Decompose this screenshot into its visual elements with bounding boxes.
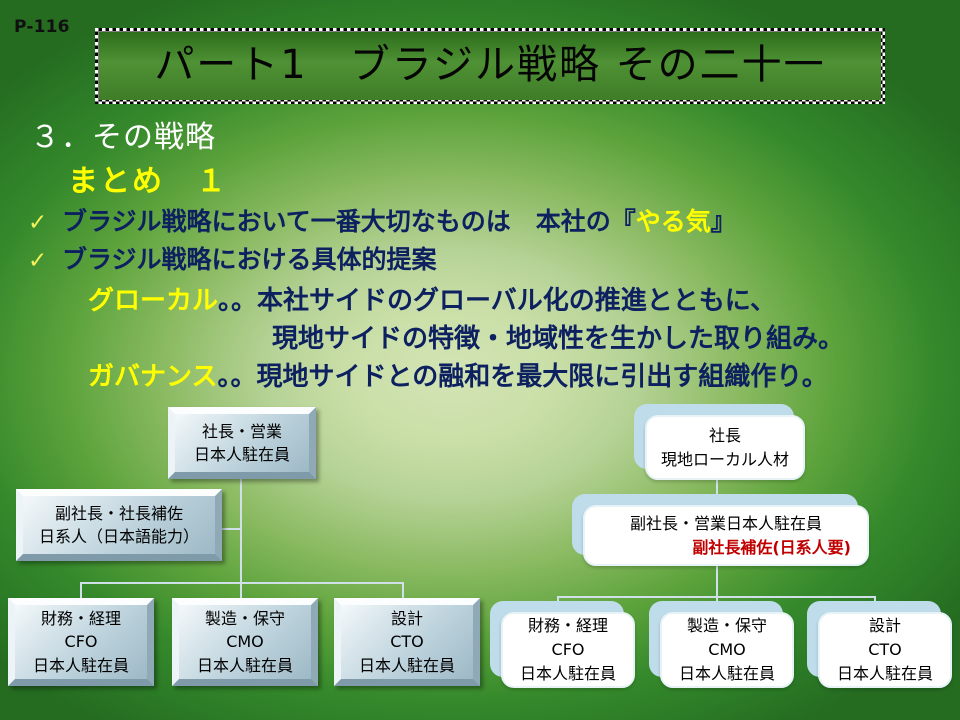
org-left-president: 社長・営業 日本人駐在員 [168, 407, 316, 479]
org-left-vp-line-2: 日系人（日本語能力） [39, 525, 199, 548]
bullet-1-highlight: やる気 [636, 207, 711, 236]
org-right-vice-president: 副社長・営業日本人駐在員 副社長補佐(日系人要) [583, 505, 869, 566]
bullet-1-lead: ブラジル戦略において一番大切なものは 本社の『 [62, 207, 636, 236]
org-left-president-line-1: 社長・営業 [202, 420, 282, 443]
connector-left-vp-stub [222, 528, 242, 530]
section-heading: ３．その戦略 [30, 112, 216, 156]
org-left-manufacturing-line-3: 日本人駐在員 [197, 654, 293, 677]
body-line-1: グローカル。。本社サイドのグローバル化の推進とともに、 [88, 280, 776, 317]
connector-left-president-down [240, 478, 242, 583]
org-left-vp-line-1: 副社長・社長補佐 [55, 502, 183, 525]
org-left-vice-president: 副社長・社長補佐 日系人（日本語能力） [16, 489, 222, 561]
org-left-design: 設計 CTO 日本人駐在員 [334, 598, 480, 686]
connector-left-drop-design [402, 582, 404, 598]
bullet-1-tail: 』 [711, 207, 736, 236]
card-body: 社長 現地ローカル人材 [645, 415, 805, 480]
check-icon: ✓ [28, 248, 62, 274]
org-left-president-line-2: 日本人駐在員 [194, 443, 290, 466]
org-right-manufacturing-line-1: 製造・保守 [687, 614, 767, 638]
org-left-finance-line-1: 財務・経理 [41, 607, 121, 630]
org-right-design: 設計 CTO 日本人駐在員 [818, 612, 952, 688]
org-right-manufacturing-line-2: CMO [708, 638, 746, 662]
bullet-item-1: ✓ブラジル戦略において一番大切なものは 本社の『やる気』 [28, 202, 736, 238]
card-body: 財務・経理 CFO 日本人駐在員 [501, 612, 635, 688]
card-body: 副社長・営業日本人駐在員 副社長補佐(日系人要) [583, 505, 869, 566]
org-left-design-line-1: 設計 [391, 607, 423, 630]
org-right-president: 社長 現地ローカル人材 [645, 415, 805, 480]
org-right-design-line-3: 日本人駐在員 [837, 662, 933, 686]
org-left-design-line-3: 日本人駐在員 [359, 654, 455, 677]
org-right-president-line-2: 現地ローカル人材 [661, 448, 789, 472]
org-right-finance-line-3: 日本人駐在員 [520, 662, 616, 686]
page-number: P-116 [14, 17, 70, 37]
org-right-finance-line-1: 財務・経理 [528, 614, 608, 638]
org-right-vp-line-1: 副社長・営業日本人駐在員 [630, 512, 822, 536]
section-subheading: まとめ １ [68, 156, 228, 200]
body-line-2-rest: 現地サイドの特徴・地域性を生かした取り組み。 [272, 324, 844, 354]
org-left-design-line-2: CTO [390, 630, 424, 653]
slide-canvas: P-116 パート1 ブラジル戦略 その二十一 ３．その戦略 まとめ １ ✓ブラ… [0, 0, 960, 720]
org-left-manufacturing: 製造・保守 CMO 日本人駐在員 [172, 598, 318, 686]
card-body: 製造・保守 CMO 日本人駐在員 [660, 612, 794, 688]
page-title: パート1 ブラジル戦略 その二十一 [154, 45, 825, 85]
body-line-2: 現地サイドの特徴・地域性を生かした取り組み。 [272, 318, 844, 355]
org-left-manufacturing-line-1: 製造・保守 [205, 607, 285, 630]
org-right-design-line-1: 設計 [869, 614, 901, 638]
org-right-vp-assistant-note: 副社長補佐(日系人要) [692, 536, 851, 560]
body-line-3: ガバナンス。。現地サイドとの融和を最大限に引出す組織作り。 [88, 356, 828, 393]
title-band-inner: パート1 ブラジル戦略 その二十一 [99, 32, 881, 100]
org-right-finance-line-2: CFO [552, 638, 585, 662]
org-left-finance-line-2: CFO [65, 630, 98, 653]
card-body: 設計 CTO 日本人駐在員 [818, 612, 952, 688]
connector-left-drop-manufacturing [240, 582, 242, 598]
org-right-design-line-2: CTO [868, 638, 902, 662]
org-left-finance-line-3: 日本人駐在員 [33, 654, 129, 677]
bullet-2-lead: ブラジル戦略における具体的提案 [62, 245, 437, 274]
body-line-1-keyword: グローカル [88, 286, 218, 316]
body-line-1-rest: 。。本社サイドのグローバル化の推進とともに、 [218, 286, 776, 316]
title-band: パート1 ブラジル戦略 その二十一 [95, 28, 885, 104]
org-right-president-line-1: 社長 [709, 424, 741, 448]
check-icon: ✓ [28, 210, 62, 236]
bullet-item-2: ✓ブラジル戦略における具体的提案 [28, 240, 437, 276]
connector-right-vp-down [716, 566, 718, 596]
connector-left-drop-finance [80, 582, 82, 598]
body-line-3-keyword: ガバナンス [88, 362, 217, 392]
org-left-manufacturing-line-2: CMO [226, 630, 264, 653]
body-line-3-rest: 。。現地サイドとの融和を最大限に引出す組織作り。 [217, 362, 827, 392]
org-right-finance: 財務・経理 CFO 日本人駐在員 [501, 612, 635, 688]
org-left-finance: 財務・経理 CFO 日本人駐在員 [8, 598, 154, 686]
org-right-manufacturing-line-3: 日本人駐在員 [679, 662, 775, 686]
org-right-manufacturing: 製造・保守 CMO 日本人駐在員 [660, 612, 794, 688]
